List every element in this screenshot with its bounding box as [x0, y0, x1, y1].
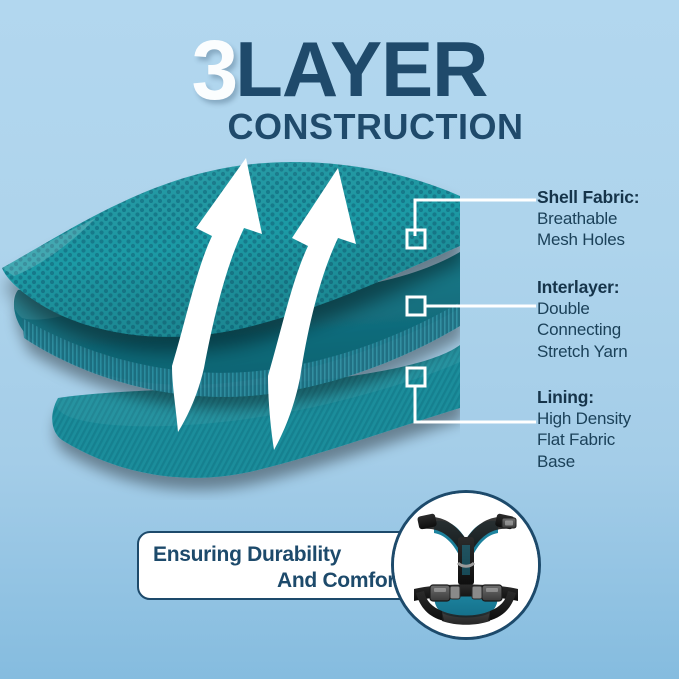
callout-lining-title: Lining: [537, 386, 631, 408]
connector-shell [404, 196, 539, 258]
callout-shell-fabric: Shell Fabric: Breathable Mesh Holes [537, 186, 639, 251]
callout-interlayer-line-2: Connecting [537, 319, 628, 340]
layer-stack-illustration [0, 140, 460, 500]
callout-lining-line-3: Base [537, 451, 631, 472]
title-number: 3 [192, 28, 236, 112]
infographic-canvas: 3LAYER CONSTRUCTION [0, 0, 679, 679]
callout-shell-title: Shell Fabric: [537, 186, 639, 208]
callout-lining-line-1: High Density [537, 408, 631, 429]
callout-interlayer: Interlayer: Double Connecting Stretch Ya… [537, 276, 628, 362]
connector-interlayer [404, 293, 539, 319]
callout-interlayer-title: Interlayer: [537, 276, 628, 298]
callout-shell-line-1: Breathable [537, 208, 639, 229]
callout-interlayer-line-3: Stretch Yarn [537, 341, 628, 362]
title-main-row: 3LAYER [0, 30, 679, 114]
callout-lining: Lining: High Density Flat Fabric Base [537, 386, 631, 472]
callout-shell-line-2: Mesh Holes [537, 229, 639, 250]
tagline-line-1: Ensuring Durability [153, 542, 428, 568]
product-image-circle [391, 490, 541, 640]
square-marker-lining [407, 368, 425, 386]
connector-lining [404, 364, 539, 428]
square-marker-interlayer [407, 297, 425, 315]
title-word: LAYER [235, 30, 487, 108]
tagline-line-2: And Comfort [153, 568, 428, 594]
callout-interlayer-line-1: Double [537, 298, 628, 319]
callout-lining-line-2: Flat Fabric [537, 429, 631, 450]
title-block: 3LAYER CONSTRUCTION [0, 30, 679, 140]
